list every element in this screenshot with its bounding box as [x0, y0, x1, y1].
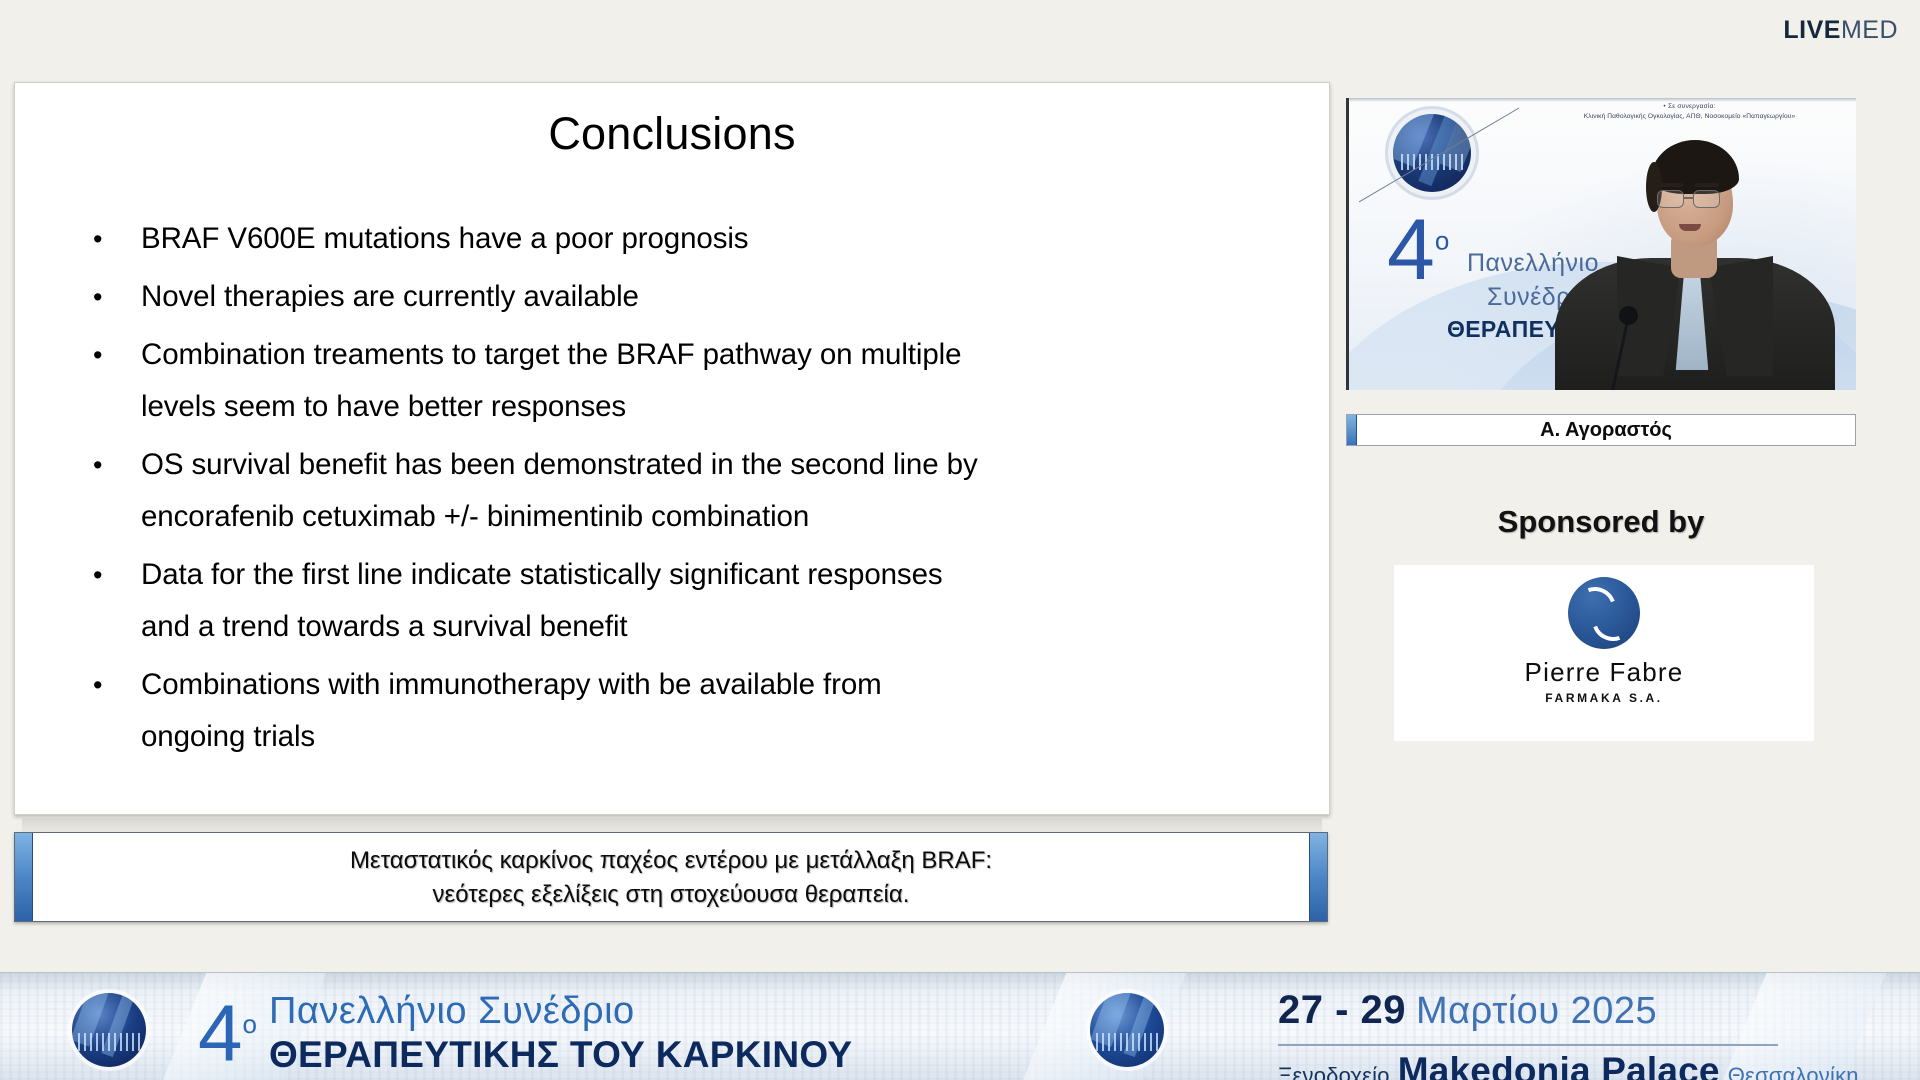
title-bar-left-accent [15, 833, 33, 921]
talk-title-line-1: Μεταστατικός καρκίνος παχέος εντέρου με … [350, 844, 992, 878]
footer-edition-digit: 4 [198, 989, 243, 1078]
bullet-text: Combination treaments to target the BRAF… [141, 329, 989, 433]
footer-hotel-word: Ξενοδοχείο [1278, 1063, 1390, 1080]
list-item: • OS survival benefit has been demonstra… [87, 439, 989, 543]
backdrop-edition-digit: 4 [1387, 202, 1435, 298]
speaker-eyebrow-right [1695, 183, 1719, 187]
speaker-glasses-bridge [1684, 197, 1693, 199]
backdrop-cooperation-block: • Σε συνεργασία: Κλινική Παθολογικής Ογκ… [1529, 103, 1850, 120]
footer-title-line-1: Πανελλήνιο Συνέδριο [269, 989, 852, 1033]
footer-globe-right-icon [1090, 993, 1164, 1067]
backdrop-globe-icon [1393, 114, 1471, 192]
footer-venue-line: ΞενοδοχείοMakedonia PalaceΘεσσαλονίκη [1278, 1050, 1859, 1080]
speaker-video-player[interactable]: • Σε συνεργασία: Κλινική Παθολογικής Ογκ… [1346, 98, 1856, 390]
presentation-slide[interactable]: Conclusions • BRAF V600E mutations have … [14, 82, 1330, 815]
slide-bullet-list: • BRAF V600E mutations have a poor progn… [87, 213, 989, 769]
talk-title-line-2: νεότερες εξελίξεις στη στοχεύουσα θεραπε… [433, 878, 910, 912]
footer-conference-title-group: 4o Πανελλήνιο Συνέδριο ΘΕΡΑΠΕΥΤΙΚΗΣ ΤΟΥ … [198, 985, 852, 1077]
bullet-text: Novel therapies are currently available [141, 271, 639, 323]
talk-title-text-group: Μεταστατικός καρκίνος παχέος εντέρου με … [33, 833, 1309, 921]
bullet-marker-icon: • [87, 329, 141, 381]
footer-divider [1278, 1044, 1778, 1046]
slide-shadow-strip [22, 818, 1322, 832]
list-item: • Novel therapies are currently availabl… [87, 271, 989, 323]
name-bar-accent [1347, 415, 1357, 445]
bullet-marker-icon: • [87, 271, 141, 323]
backdrop-coop-label: • Σε συνεργασία: [1529, 103, 1850, 110]
pierre-fabre-logo-icon [1568, 577, 1640, 649]
footer-date-line: 27 - 29Μαρτίου 2025 [1278, 987, 1859, 1042]
footer-month-year: Μαρτίου 2025 [1416, 990, 1657, 1032]
footer-title-line-2: ΘΕΡΑΠΕΥΤΙΚΗΣ ΤΟΥ ΚΑΡΚΙΝΟΥ [269, 1033, 852, 1077]
talk-title-bar: Μεταστατικός καρκίνος παχέος εντέρου με … [14, 832, 1328, 922]
speaker-glasses-lens-left [1657, 190, 1684, 208]
name-bar-body: Α. Αγοραστός [1357, 415, 1855, 445]
speaker-figure [1545, 120, 1845, 390]
footer-date-venue-group: 27 - 29Μαρτίου 2025 ΞενοδοχείοMakedonia … [1278, 987, 1859, 1080]
bullet-marker-icon: • [87, 439, 141, 491]
slide-title: Conclusions [15, 108, 1329, 160]
list-item: • Combinations with immunotherapy with b… [87, 659, 989, 763]
microphone-head-icon [1619, 306, 1638, 325]
bullet-text: Data for the first line indicate statist… [141, 549, 989, 653]
list-item: • BRAF V600E mutations have a poor progn… [87, 213, 989, 265]
speaker-glasses-lens-right [1693, 190, 1720, 208]
list-item: • Combination treaments to target the BR… [87, 329, 989, 433]
bullet-marker-icon: • [87, 549, 141, 601]
footer-city: Θεσσαλονίκη [1728, 1063, 1859, 1080]
list-item: • Data for the first line indicate stati… [87, 549, 989, 653]
conference-footer-banner: 4o Πανελλήνιο Συνέδριο ΘΕΡΑΠΕΥΤΙΚΗΣ ΤΟΥ … [0, 972, 1920, 1080]
bullet-text: OS survival benefit has been demonstrate… [141, 439, 989, 543]
livemed-logo: LIVEMED [1783, 18, 1898, 43]
speaker-mouth [1679, 224, 1701, 231]
video-top-edge [1349, 98, 1856, 102]
footer-edition-ordinal: o [243, 1009, 257, 1039]
livemed-logo-part2: MED [1841, 16, 1898, 44]
footer-globe-left-icon [72, 993, 146, 1067]
speaker-name-bar: Α. Αγοραστός [1346, 414, 1856, 446]
title-bar-right-accent [1309, 833, 1327, 921]
backdrop-edition-ordinal: o [1435, 225, 1449, 255]
bullet-marker-icon: • [87, 659, 141, 711]
footer-dates: 27 - 29 [1278, 988, 1406, 1032]
sponsor-subtitle: FARMAKA S.A. [1394, 691, 1814, 705]
footer-edition-number: 4o [198, 985, 257, 1073]
sponsor-name: Pierre Fabre [1394, 657, 1814, 688]
conference-backdrop: • Σε συνεργασία: Κλινική Παθολογικής Ογκ… [1349, 98, 1856, 390]
bullet-text: BRAF V600E mutations have a poor prognos… [141, 213, 748, 265]
speaker-eyebrow-left [1659, 183, 1683, 187]
livemed-logo-part1: LIVE [1783, 16, 1841, 44]
sponsor-logo-card[interactable]: Pierre Fabre FARMAKA S.A. [1394, 565, 1814, 741]
bullet-marker-icon: • [87, 213, 141, 265]
bullet-text: Combinations with immunotherapy with be … [141, 659, 989, 763]
sponsored-by-label: Sponsored by [1346, 504, 1856, 540]
speaker-name: Α. Αγοραστός [1540, 419, 1672, 442]
footer-hotel-name: Makedonia Palace [1398, 1050, 1720, 1080]
backdrop-edition-number: 4o [1387, 216, 1449, 285]
backdrop-coop-org: Κλινική Παθολογικής Ογκολογίας, ΑΠΘ, Νοσ… [1529, 113, 1850, 120]
footer-title-lines: Πανελλήνιο Συνέδριο ΘΕΡΑΠΕΥΤΙΚΗΣ ΤΟΥ ΚΑΡ… [269, 985, 852, 1077]
